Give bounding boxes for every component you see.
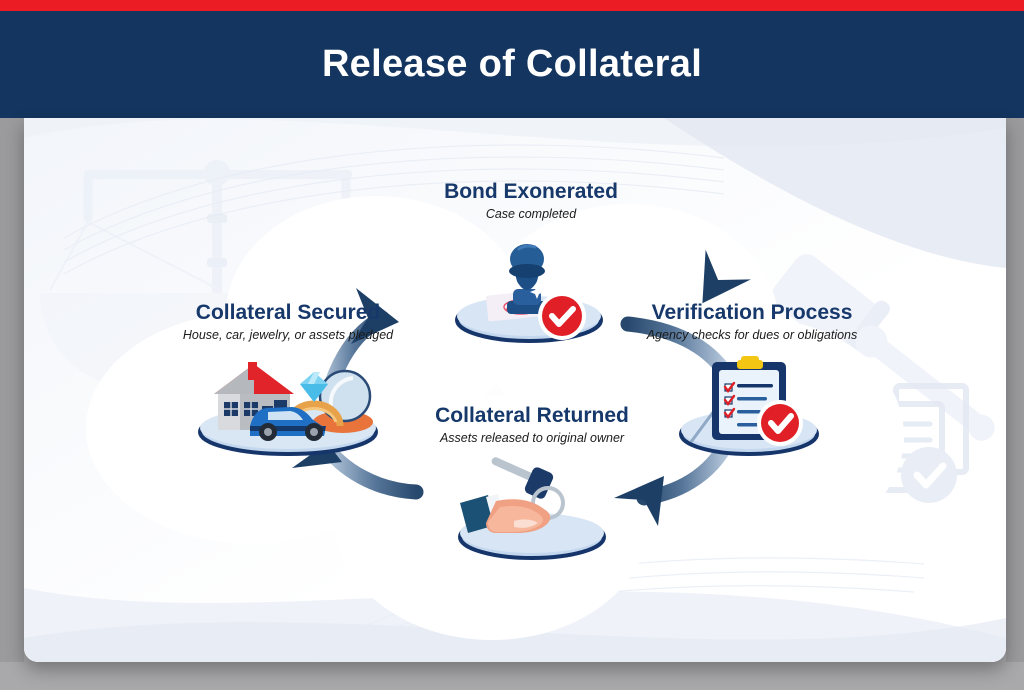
top-accent-stripe	[0, 0, 1024, 11]
house-car-jewelry-assets-icon	[188, 348, 388, 456]
step-subtitle: House, car, jewelry, or assets pledged	[104, 328, 472, 342]
right-page-rail	[1006, 118, 1024, 662]
page-header: Release of Collateral	[0, 11, 1024, 118]
step-title: Bond Exonerated	[376, 180, 686, 203]
step-subtitle: Assets released to original owner	[372, 431, 692, 445]
diagram-canvas: Bond Exonerated Case completed	[24, 118, 1006, 662]
infographic-root: Release of Collateral	[0, 0, 1024, 690]
step-title: Collateral Secured	[104, 301, 472, 324]
step-subtitle: Agency checks for dues or obligations	[602, 328, 902, 342]
clipboard-checklist-icon	[667, 348, 837, 458]
step-subtitle: Case completed	[376, 207, 686, 221]
step-title: Collateral Returned	[372, 404, 692, 427]
step-title: Verification Process	[602, 301, 902, 324]
left-page-rail	[0, 118, 24, 662]
hand-holding-keys-icon	[442, 451, 622, 559]
page-title: Release of Collateral	[322, 43, 702, 86]
step-collateral-returned[interactable]: Collateral Returned Assets released to o…	[372, 404, 692, 559]
